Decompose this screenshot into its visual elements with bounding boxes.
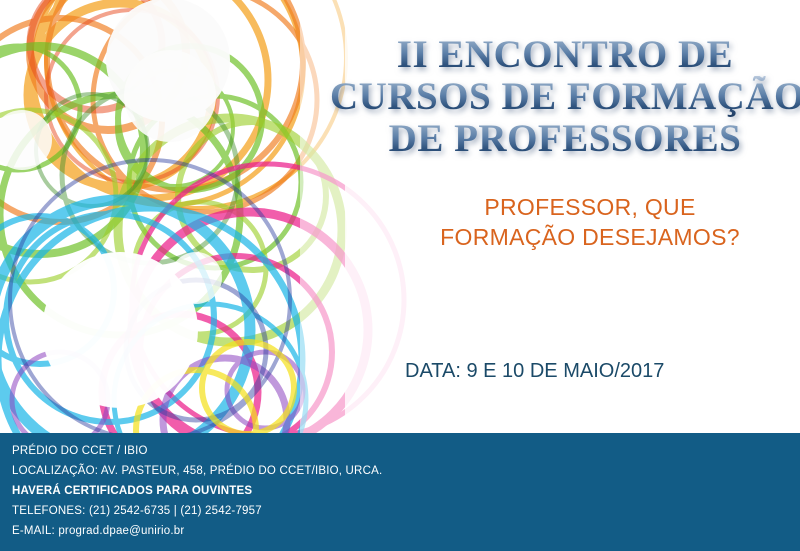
footer-contact-block: PRÉDIO DO CCET / IBIO LOCALIZAÇÃO: AV. P…	[12, 441, 382, 541]
title-line-3: DE PROFESSORES	[330, 118, 800, 160]
footer-line-building: PRÉDIO DO CCET / IBIO	[12, 441, 382, 461]
event-date: DATA: 9 E 10 DE MAIO/2017	[405, 358, 746, 384]
footer-line-email: E-MAIL: prograd.dpae@unirio.br	[12, 521, 382, 541]
poster: II ENCONTRO DE CURSOS DE FORMAÇÃO DE PRO…	[0, 0, 800, 551]
footer-bar: PRÉDIO DO CCET / IBIO LOCALIZAÇÃO: AV. P…	[0, 433, 800, 551]
poster-subtitle: PROFESSOR, QUE FORMAÇÃO DESEJAMOS?	[380, 192, 800, 252]
footer-line-phones: TELEFONES: (21) 2542-6735 | (21) 2542-79…	[12, 501, 382, 521]
footer-line-address: LOCALIZAÇÃO: AV. PASTEUR, 458, PRÉDIO DO…	[12, 461, 382, 481]
title-line-1: II ENCONTRO DE	[330, 34, 800, 76]
subtitle-line-2: FORMAÇÃO DESEJAMOS?	[380, 222, 800, 252]
subtitle-line-1: PROFESSOR, QUE	[380, 192, 800, 222]
footer-line-certificates: HAVERÁ CERTIFICADOS PARA OUVINTES	[12, 481, 382, 501]
poster-title: II ENCONTRO DE CURSOS DE FORMAÇÃO DE PRO…	[330, 34, 800, 160]
title-line-2: CURSOS DE FORMAÇÃO	[330, 76, 800, 118]
